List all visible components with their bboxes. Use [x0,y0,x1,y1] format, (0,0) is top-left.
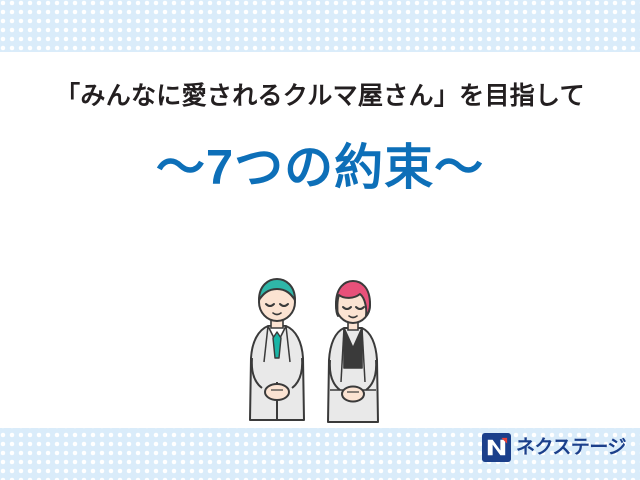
page-title: 「みんなに愛されるクルマ屋さん」を目指して [0,76,640,112]
figure-man-in-suit [250,279,304,420]
illustration-two-people-bowing [238,272,408,432]
brand-logo-text: ネクステージ [516,438,626,457]
nextage-n-mark [482,433,511,462]
figure-woman-in-coat [328,281,378,422]
slide-root: 「みんなに愛されるクルマ屋さん」を目指して 〜7つの約束〜 [0,0,640,480]
brand-logo: ネクステージ [482,433,626,462]
page-subtitle: 〜7つの約束〜 [0,128,640,199]
